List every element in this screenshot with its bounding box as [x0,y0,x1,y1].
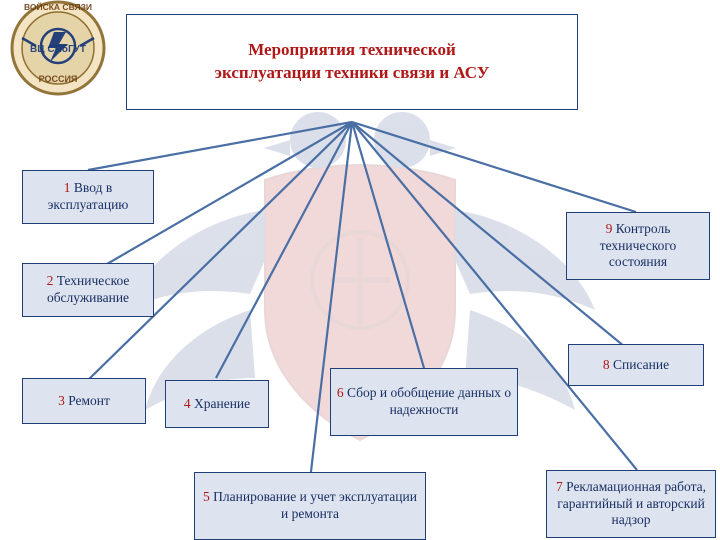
node-4-number: 4 [184,396,191,411]
node-7-number: 7 [556,479,563,494]
node-2-label: Техническое обслуживание [47,273,129,305]
node-5-planirovanie-i-uchet[interactable]: 5 Планирование и учет эксплуатации и рем… [194,472,426,540]
diagram-title-line1: Мероприятия технической [248,40,456,59]
diagram-canvas: ВОЙСКА СВЯЗИ ВЦ СПбГУТ РОССИЯ Мероприяти… [0,0,720,540]
node-2-tekhnicheskoe-obsluzhivanie[interactable]: 2 Техническое обслуживание [22,263,154,317]
node-1-label: Ввод в эксплуатацию [48,180,129,212]
node-7-reklamatsionnaya-rabota[interactable]: 7 Рекламационная работа, гарантийный и а… [546,470,716,538]
node-4-label: Хранение [194,396,250,411]
node-3-remont[interactable]: 3 Ремонт [22,378,146,424]
node-2-number: 2 [47,273,54,288]
node-6-sbor-i-obobshchenie[interactable]: 6 Сбор и обобщение данных о надежности [330,368,518,436]
node-8-spisanie[interactable]: 8 Списание [568,344,704,386]
node-1-number: 1 [64,180,71,195]
node-9-number: 9 [606,221,613,236]
node-3-label: Ремонт [68,393,110,408]
node-6-label: Сбор и обобщение данных о надежности [347,385,511,417]
node-4-khranenie[interactable]: 4 Хранение [165,380,269,428]
node-5-label: Планирование и учет эксплуатации и ремон… [213,489,417,521]
node-9-label: Контроль технического состояния [600,221,677,270]
node-6-number: 6 [337,385,344,400]
node-1-vvod-v-ekspluatatsiyu[interactable]: 1 Ввод в эксплуатацию [22,170,154,224]
node-7-label: Рекламационная работа, гарантийный и авт… [557,479,706,528]
diagram-title-box: Мероприятия технической эксплуатации тех… [126,14,578,110]
diagram-title-line2: эксплуатации техники связи и АСУ [215,63,490,82]
node-8-label: Списание [613,357,669,372]
node-3-number: 3 [58,393,65,408]
node-9-kontrol-tekhnicheskogo-sostoyaniya[interactable]: 9 Контроль технического состояния [566,212,710,280]
node-8-number: 8 [603,357,610,372]
node-5-number: 5 [203,489,210,504]
